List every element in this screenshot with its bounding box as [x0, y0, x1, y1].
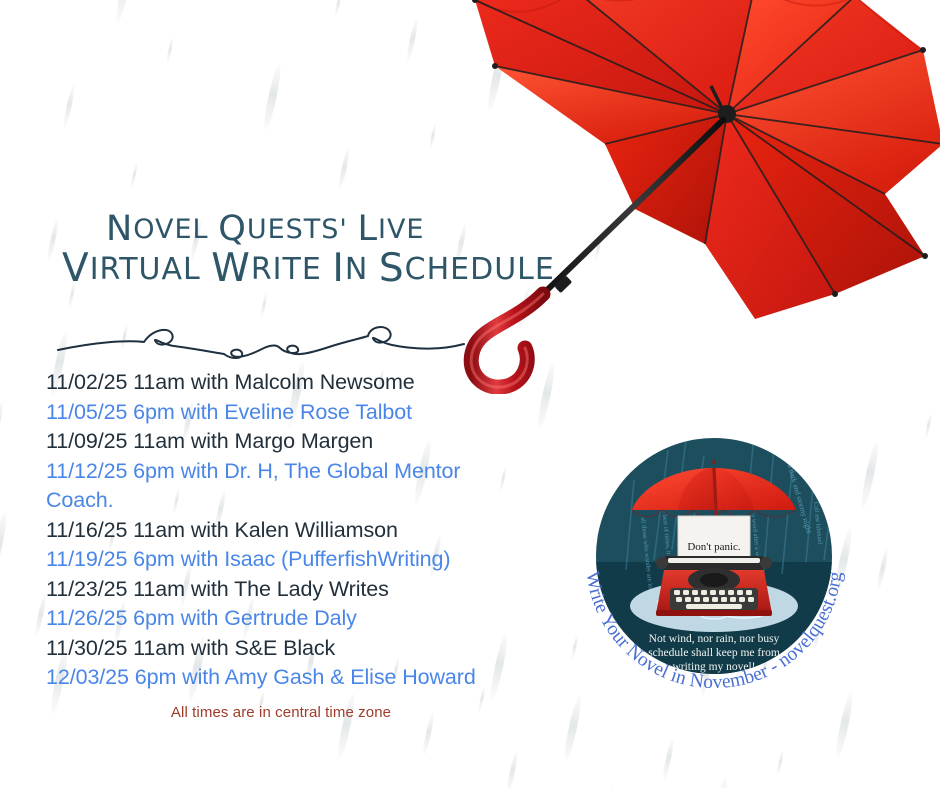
schedule-item: 11/19/25 6pm with Isaac (PufferfishWriti… [46, 545, 516, 575]
poster-canvas: NOVEL QUESTS' LIVE VIRTUAL WRITE IN SCHE… [0, 0, 940, 788]
schedule-item: 11/23/25 11am with The Lady Writes [46, 575, 516, 605]
novelquest-badge: It was the best of times, it was the wor… [568, 410, 860, 702]
schedule-item: 11/16/25 11am with Kalen Williamson [46, 516, 516, 546]
decorative-flourish-divider [56, 318, 466, 368]
schedule-item: 11/26/25 6pm with Gertrude Daly [46, 604, 516, 634]
badge-quote-line: Not wind, nor rain, nor busy [649, 633, 780, 645]
schedule-item: 11/09/25 11am with Margo Margen [46, 427, 516, 457]
page-title: NOVEL QUESTS' LIVE VIRTUAL WRITE IN SCHE… [56, 216, 496, 285]
typewriter-paper-text: Don't panic. [687, 541, 741, 553]
schedule-list: 11/02/25 11am with Malcolm Newsome 11/05… [46, 368, 516, 693]
badge-quote-line: schedule shall keep me from [648, 647, 780, 659]
schedule-item: 12/03/25 6pm with Amy Gash & Elise Howar… [46, 663, 516, 693]
schedule-item: 11/12/25 6pm with Dr. H, The Global Ment… [46, 457, 516, 516]
schedule-item: 11/05/25 6pm with Eveline Rose Talbot [46, 398, 516, 428]
schedule-item: 11/30/25 11am with S&E Black [46, 634, 516, 664]
timezone-note: All times are in central time zone [46, 704, 516, 721]
red-umbrella-photo [455, 0, 940, 394]
title-line-1: NOVEL QUESTS' LIVE [56, 216, 496, 243]
schedule-item: 11/02/25 11am with Malcolm Newsome [46, 368, 516, 398]
title-line-2: VIRTUAL WRITE IN SCHEDULE [56, 255, 496, 285]
